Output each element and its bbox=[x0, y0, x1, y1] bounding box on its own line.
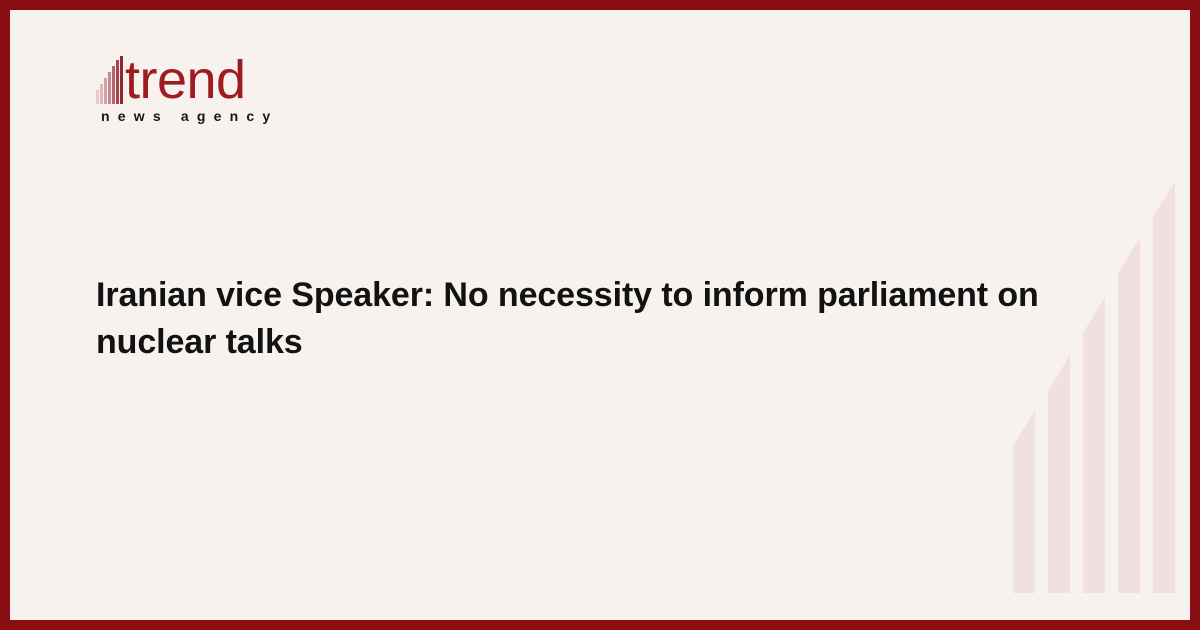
headline: Iranian vice Speaker: No necessity to in… bbox=[96, 272, 1106, 366]
logo-tagline: news agency bbox=[101, 108, 356, 124]
brand-logo[interactable]: trend news agency bbox=[96, 48, 356, 140]
trend-bar-chart-mark bbox=[96, 56, 124, 104]
card-inner: trend news agency Iranian vice Speaker: … bbox=[10, 10, 1190, 620]
decoration-bar-slant bbox=[1013, 410, 1035, 446]
logo-mark: trend bbox=[96, 48, 356, 106]
decoration-bar bbox=[1118, 237, 1140, 593]
decoration-bar bbox=[1013, 410, 1035, 593]
logo-wordmark: trend bbox=[125, 56, 246, 106]
decoration-bar bbox=[1153, 181, 1175, 593]
decoration-bar-slant bbox=[1153, 181, 1175, 217]
decoration-bar-slant bbox=[1118, 237, 1140, 273]
decoration-bar bbox=[1048, 355, 1070, 593]
share-card: trend news agency Iranian vice Speaker: … bbox=[0, 0, 1200, 630]
